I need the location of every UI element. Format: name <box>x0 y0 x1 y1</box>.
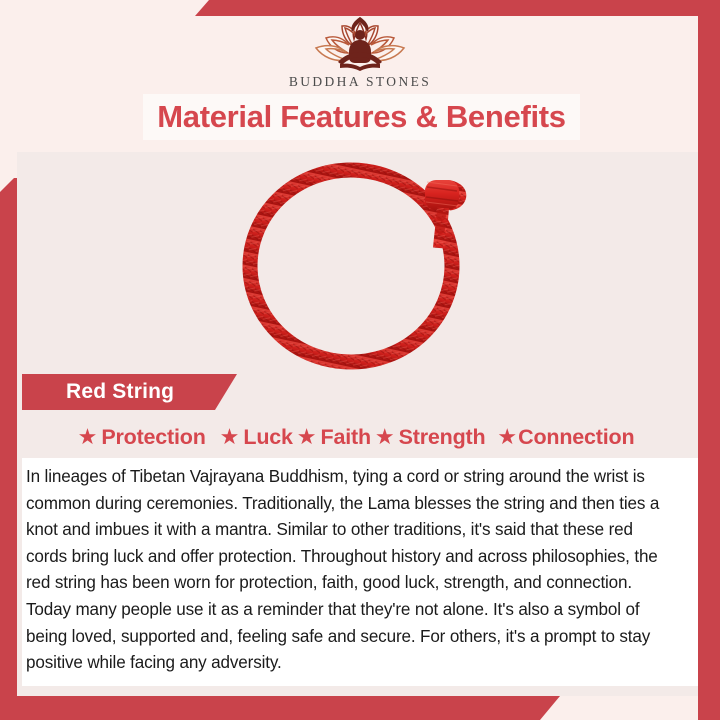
benefit-label: Faith <box>321 425 371 450</box>
star-icon: ★ <box>220 426 240 448</box>
red-braided-string-bracelet-icon <box>233 156 483 371</box>
frame-accent-left <box>0 178 17 720</box>
star-icon: ★ <box>78 426 98 448</box>
product-label-ribbon: Red String <box>22 374 237 410</box>
benefits-list: ★ Protection ★ Luck ★ Faith ★ Strength ★… <box>22 420 690 454</box>
page-title: Material Features & Benefits <box>157 99 566 135</box>
product-label: Red String <box>22 380 174 404</box>
benefit-item: ★ Faith <box>297 425 371 450</box>
product-image <box>17 152 698 374</box>
benefit-item: ★ Strength <box>375 425 486 450</box>
brand-logo: BUDDHA STONES <box>0 14 720 90</box>
lotus-meditation-icon <box>304 14 416 72</box>
benefit-label: Strength <box>399 425 486 450</box>
benefit-label: Luck <box>243 425 292 450</box>
brand-name: BUDDHA STONES <box>289 74 431 90</box>
description-text: In lineages of Tibetan Vajrayana Buddhis… <box>26 464 676 677</box>
benefit-item: ★ Protection <box>78 425 206 450</box>
benefit-item: ★ Luck <box>220 425 293 450</box>
frame-accent-right <box>698 0 720 720</box>
star-icon: ★ <box>297 426 317 448</box>
benefit-label: Connection <box>518 425 634 450</box>
star-icon: ★ <box>375 426 395 448</box>
title-banner: Material Features & Benefits <box>143 94 580 140</box>
description-panel: In lineages of Tibetan Vajrayana Buddhis… <box>22 458 698 686</box>
frame-accent-bottom <box>0 696 560 720</box>
benefit-label: Protection <box>101 425 205 450</box>
benefit-item: ★ Connection <box>497 425 634 450</box>
star-icon: ★ <box>497 426 517 448</box>
